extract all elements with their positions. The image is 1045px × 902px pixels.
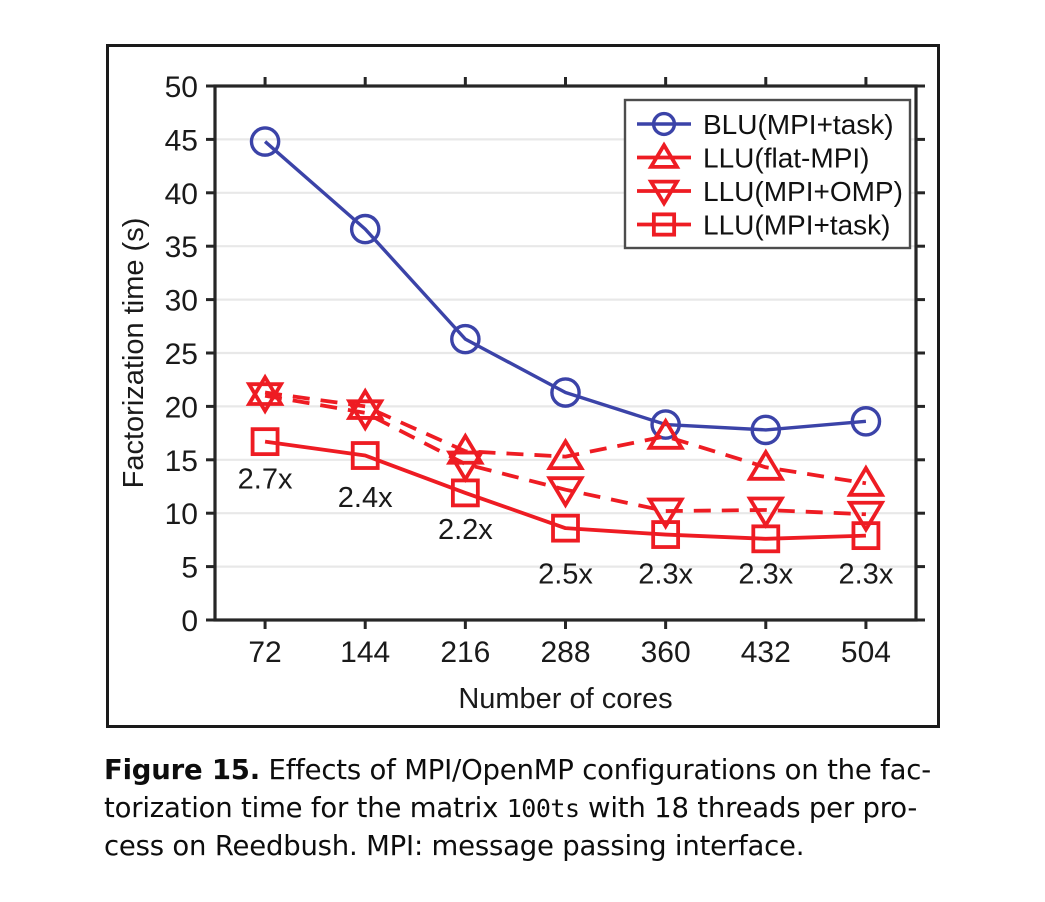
legend-label: LLU(MPI+task) <box>703 210 891 241</box>
data-point-circle <box>552 379 579 406</box>
data-point-circle <box>852 408 879 435</box>
speedup-annotation: 2.3x <box>638 559 693 591</box>
speedup-annotation: 2.3x <box>738 559 793 591</box>
factorization-time-line-chart: 2.7x2.4x2.2x2.5x2.3x2.3x2.3x 05101520253… <box>109 47 943 731</box>
x-tick-label: 216 <box>440 636 490 669</box>
figure-frame: 2.7x2.4x2.2x2.5x2.3x2.3x2.3x 05101520253… <box>106 44 940 728</box>
data-point-circle <box>251 128 278 155</box>
chart-plot-area: 2.7x2.4x2.2x2.5x2.3x2.3x2.3x 05101520253… <box>109 47 943 731</box>
x-tick-label: 504 <box>841 636 891 669</box>
speedup-annotation: 2.2x <box>438 514 493 546</box>
y-tick-label: 45 <box>165 124 198 157</box>
speedup-annotation: 2.7x <box>238 464 293 496</box>
speedup-annotation: 2.4x <box>338 482 393 514</box>
y-tick-label: 35 <box>165 231 198 264</box>
x-tick-label: 144 <box>340 636 390 669</box>
y-tick-label: 0 <box>181 605 198 638</box>
y-tick-label: 5 <box>181 552 198 585</box>
x-tick-label: 432 <box>741 636 791 669</box>
y-tick-label: 15 <box>165 445 198 478</box>
x-tick-label: 360 <box>641 636 691 669</box>
y-tick-label: 40 <box>165 178 198 211</box>
legend-item-llu-mpi-task[interactable]: LLU(MPI+task) <box>637 210 891 241</box>
y-tick-label: 10 <box>165 498 198 531</box>
y-tick-label: 50 <box>165 71 198 104</box>
x-tick-label: 72 <box>248 636 281 669</box>
legend-label: BLU(MPI+task) <box>703 109 894 140</box>
legend-label: LLU(MPI+OMP) <box>703 176 903 207</box>
y-tick-label: 30 <box>165 285 198 318</box>
figure-caption: Figure 15. Effects of MPI/OpenMP configu… <box>104 752 974 866</box>
x-axis-title: Number of cores <box>458 683 672 715</box>
caption-matrix-name: 100ts <box>507 794 580 823</box>
y-tick-label: 20 <box>165 391 198 424</box>
chart-legend: BLU(MPI+task)LLU(flat-MPI)LLU(MPI+OMP)LL… <box>625 100 910 248</box>
data-point-circle <box>654 114 675 135</box>
speedup-annotation: 2.3x <box>839 559 894 591</box>
x-tick-label: 288 <box>540 636 590 669</box>
data-point-circle <box>452 326 479 353</box>
legend-label: LLU(flat-MPI) <box>703 143 869 174</box>
speedup-annotation: 2.5x <box>538 559 593 591</box>
data-point-circle <box>352 216 379 243</box>
y-axis-title: Factorization time (s) <box>118 218 150 489</box>
data-point-circle <box>752 416 779 443</box>
caption-label: Figure 15. <box>104 754 260 786</box>
y-tick-label: 25 <box>165 338 198 371</box>
